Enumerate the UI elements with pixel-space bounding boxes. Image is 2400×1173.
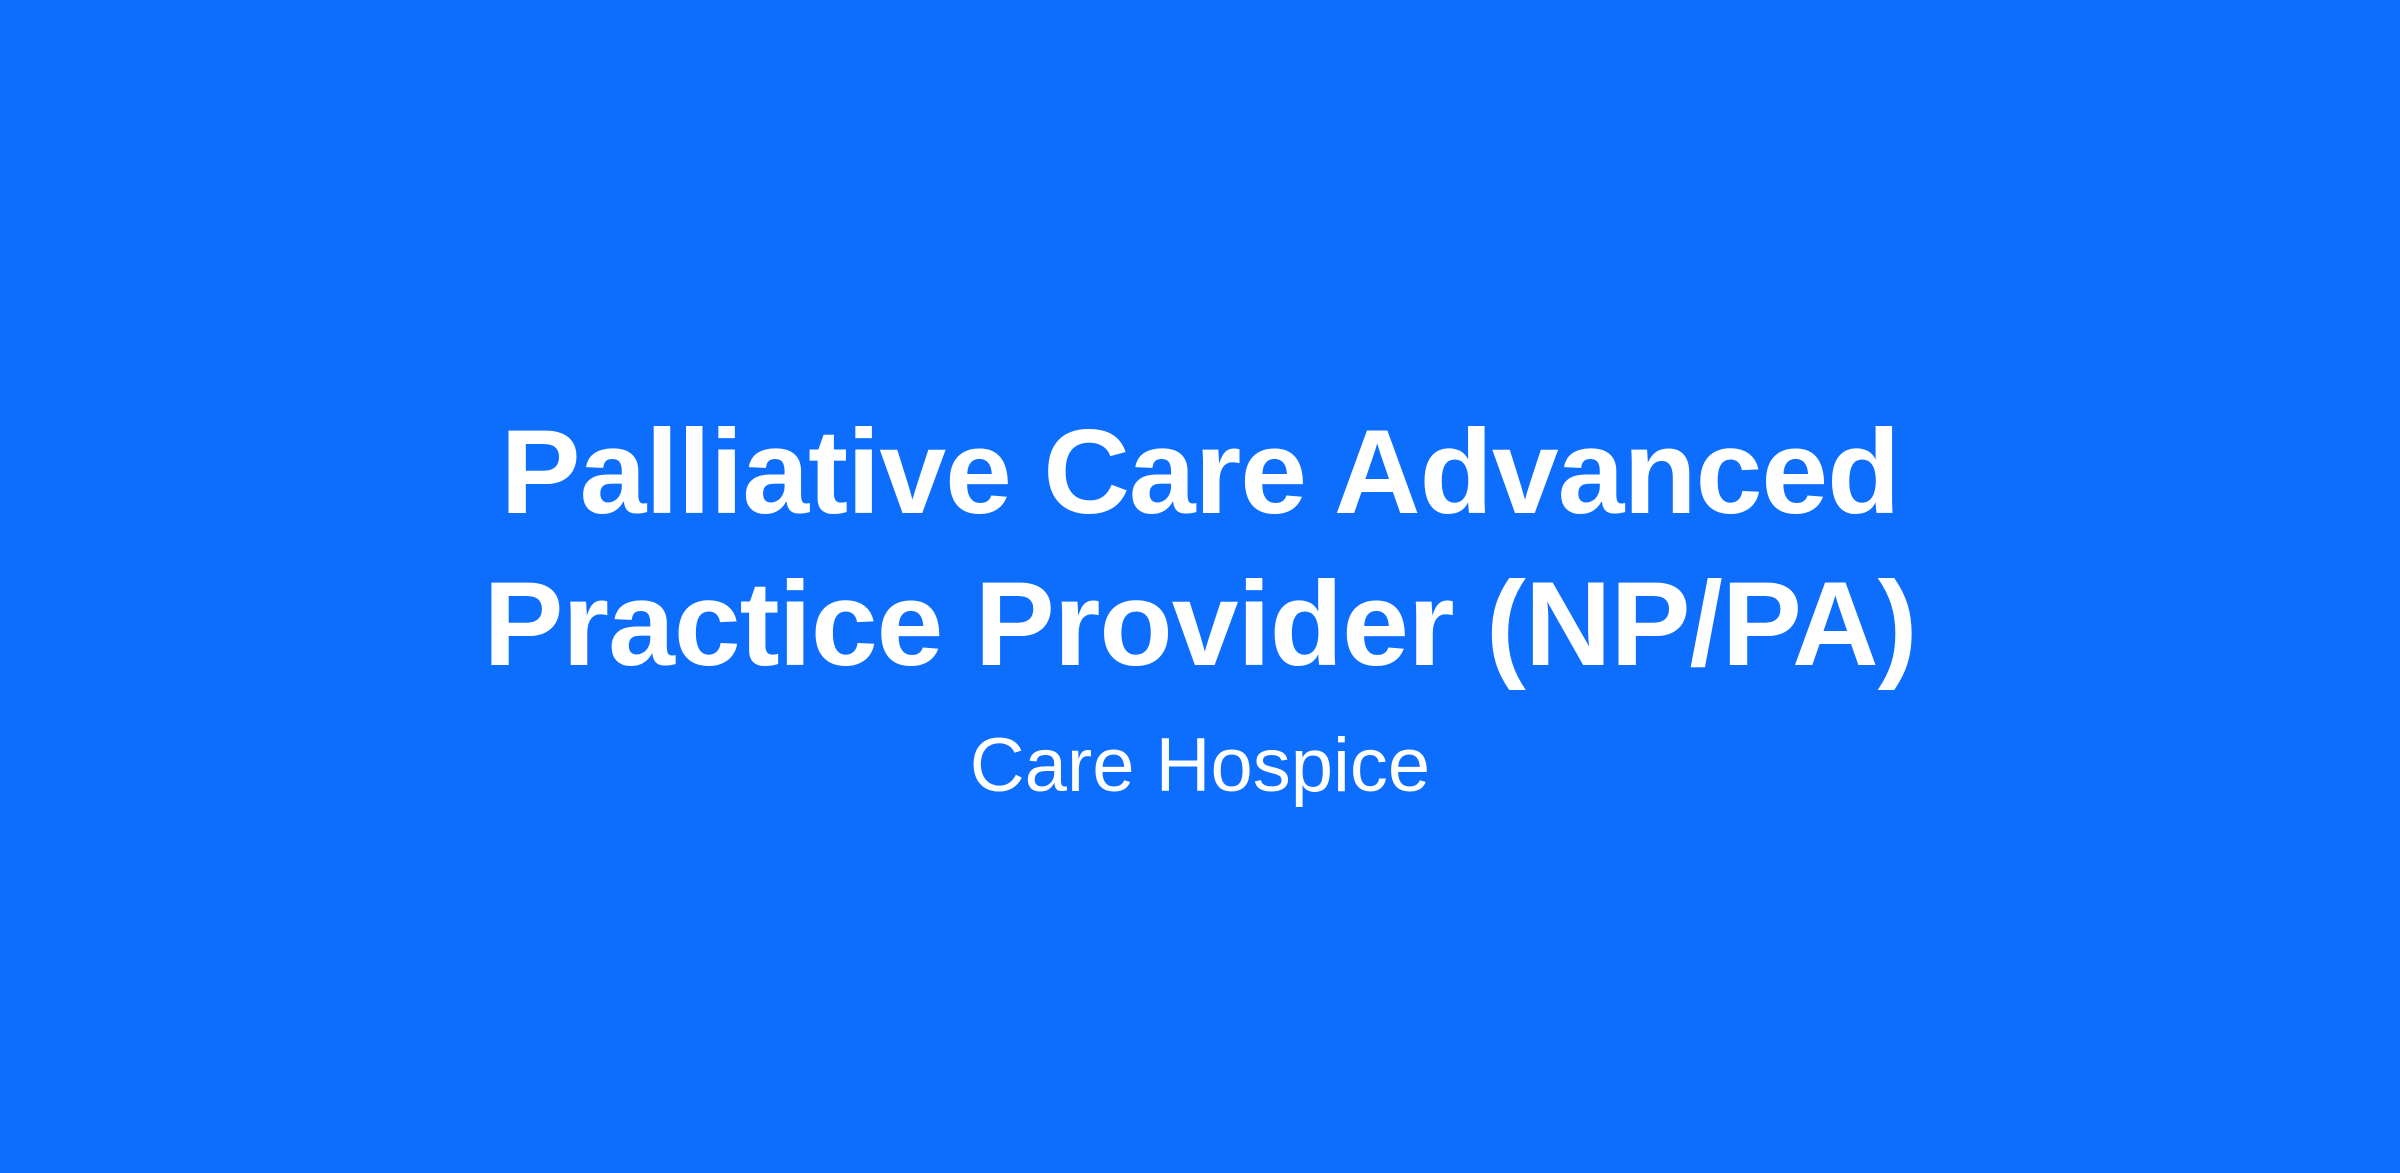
company-name: Care Hospice — [970, 720, 1430, 812]
hero-content: Palliative Care Advanced Practice Provid… — [450, 396, 1950, 812]
job-title: Palliative Care Advanced Practice Provid… — [450, 396, 1950, 700]
hero-banner: Palliative Care Advanced Practice Provid… — [0, 0, 2400, 1173]
